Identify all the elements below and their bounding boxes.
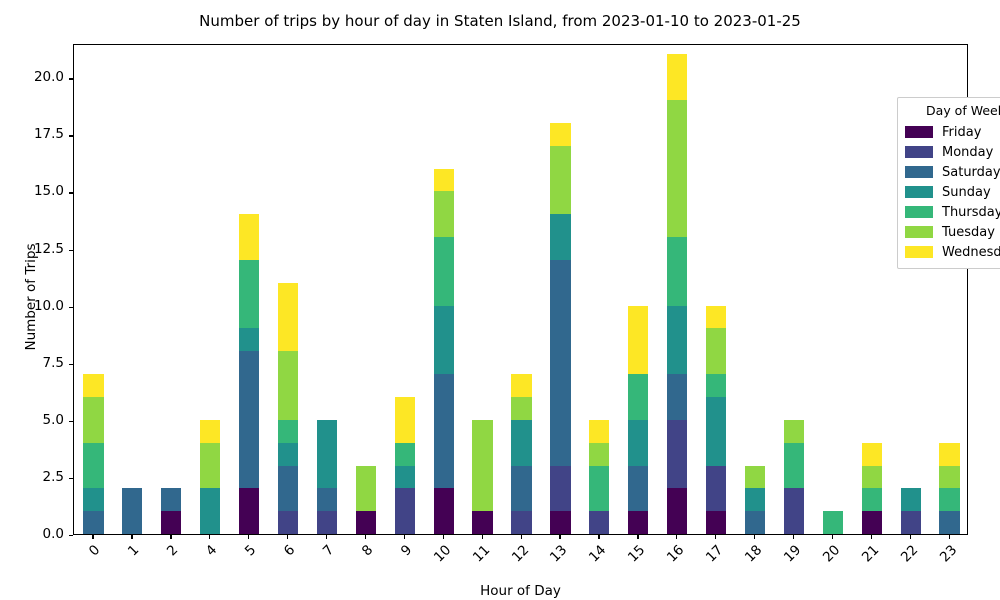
x-tick-mark (287, 535, 288, 539)
bar-segment[interactable] (706, 328, 726, 374)
bar-segment[interactable] (862, 511, 882, 534)
bar-segment[interactable] (83, 511, 103, 534)
x-tick-label: 7 (298, 542, 338, 582)
y-tick-label: 7.5 (43, 355, 64, 371)
x-tick-mark (754, 535, 755, 539)
bar-segment[interactable] (278, 283, 298, 352)
bar-group[interactable] (356, 43, 376, 534)
bar-segment[interactable] (823, 511, 843, 534)
x-tick-mark (404, 535, 405, 539)
bar-group[interactable] (83, 43, 103, 534)
x-tick-label: 0 (64, 542, 104, 582)
bar-segment[interactable] (278, 351, 298, 420)
bar-segment[interactable] (434, 169, 454, 192)
bar-segment[interactable] (161, 511, 181, 534)
bar-segment[interactable] (278, 511, 298, 534)
bar-segment[interactable] (511, 420, 531, 466)
legend-label: Thursday (942, 206, 1000, 219)
bar-segment[interactable] (161, 488, 181, 511)
bar-segment[interactable] (550, 146, 570, 215)
bar-segment[interactable] (278, 420, 298, 443)
bar-segment[interactable] (628, 466, 648, 512)
bar-segment[interactable] (862, 466, 882, 489)
x-tick-mark (365, 535, 366, 539)
legend-swatch (905, 206, 933, 218)
bars-container (74, 45, 967, 534)
bar-segment[interactable] (239, 351, 259, 488)
bar-group[interactable] (511, 43, 531, 534)
bar-segment[interactable] (550, 466, 570, 512)
bar-segment[interactable] (667, 488, 687, 534)
bar-segment[interactable] (511, 511, 531, 534)
x-axis: 0124567891011121314151617181920212223 Ho… (73, 535, 968, 600)
bar-segment[interactable] (83, 374, 103, 397)
x-tick-label: 22 (881, 542, 921, 582)
bar-group[interactable] (161, 43, 181, 534)
x-tick-label: 17 (687, 542, 727, 582)
legend-swatch (905, 126, 933, 138)
legend-item-wednesday[interactable]: Wednesday (905, 242, 1000, 262)
bar-segment[interactable] (317, 488, 337, 511)
bar-segment[interactable] (628, 511, 648, 534)
x-tick-label: 11 (453, 542, 493, 582)
legend-item-tuesday[interactable]: Tuesday (905, 222, 1000, 242)
legend-label: Friday (942, 126, 981, 139)
bar-segment[interactable] (628, 374, 648, 420)
bar-group[interactable] (317, 43, 337, 534)
y-tick-label: 0.0 (43, 526, 64, 542)
legend-swatch (905, 246, 933, 258)
bar-segment[interactable] (395, 443, 415, 466)
x-tick-mark (443, 535, 444, 539)
bar-segment[interactable] (667, 420, 687, 489)
bar-segment[interactable] (239, 260, 259, 329)
bar-segment[interactable] (278, 466, 298, 512)
bar-segment[interactable] (706, 374, 726, 397)
bar-segment[interactable] (511, 397, 531, 420)
x-tick-mark (832, 535, 833, 539)
x-tick-label: 10 (414, 542, 454, 582)
bar-segment[interactable] (83, 443, 103, 489)
x-tick-label: 19 (765, 542, 805, 582)
x-tick-label: 13 (531, 542, 571, 582)
x-tick-mark (326, 535, 327, 539)
bar-segment[interactable] (278, 443, 298, 466)
bar-segment[interactable] (356, 511, 376, 534)
bar-group[interactable] (122, 43, 142, 534)
x-tick-mark (637, 535, 638, 539)
bar-segment[interactable] (550, 123, 570, 146)
bar-group[interactable] (667, 43, 687, 534)
bar-segment[interactable] (472, 511, 492, 534)
x-tick-mark (92, 535, 93, 539)
bar-segment[interactable] (239, 488, 259, 534)
bar-segment[interactable] (550, 511, 570, 534)
x-tick-mark (209, 535, 210, 539)
bar-group[interactable] (628, 43, 648, 534)
x-axis-title: Hour of Day (73, 583, 968, 599)
bar-segment[interactable] (745, 511, 765, 534)
y-axis-title: Number of Trips (23, 97, 39, 497)
bar-segment[interactable] (434, 237, 454, 306)
bar-segment[interactable] (511, 466, 531, 512)
x-tick-mark (871, 535, 872, 539)
x-tick-label: 14 (570, 542, 610, 582)
bar-segment[interactable] (200, 420, 220, 443)
bar-segment[interactable] (395, 488, 415, 534)
bar-segment[interactable] (667, 374, 687, 420)
bar-segment[interactable] (317, 511, 337, 534)
x-tick-label: 15 (609, 542, 649, 582)
legend-item-sunday[interactable]: Sunday (905, 182, 1000, 202)
bar-segment[interactable] (200, 488, 220, 534)
bar-segment[interactable] (706, 466, 726, 512)
bar-group[interactable] (784, 43, 804, 534)
x-tick-label: 5 (220, 542, 260, 582)
x-tick-mark (131, 535, 132, 539)
bar-segment[interactable] (939, 488, 959, 511)
bar-segment[interactable] (434, 191, 454, 237)
x-tick-mark (715, 535, 716, 539)
x-tick-label: 1 (103, 542, 143, 582)
bar-segment[interactable] (939, 511, 959, 534)
bar-segment[interactable] (862, 488, 882, 511)
legend-item-thursday[interactable]: Thursday (905, 202, 1000, 222)
bar-segment[interactable] (667, 100, 687, 237)
legend-label: Sunday (942, 186, 991, 199)
legend-label: Saturday (942, 166, 1000, 179)
x-tick-mark (910, 535, 911, 539)
bar-segment[interactable] (434, 488, 454, 534)
bar-group[interactable] (823, 43, 843, 534)
bar-group[interactable] (862, 43, 882, 534)
legend-swatch (905, 226, 933, 238)
x-tick-mark (598, 535, 599, 539)
bar-segment[interactable] (589, 511, 609, 534)
bar-segment[interactable] (83, 488, 103, 511)
bar-group[interactable] (239, 43, 259, 534)
bar-group[interactable] (589, 43, 609, 534)
x-tick-label: 18 (726, 542, 766, 582)
x-tick-label: 16 (648, 542, 688, 582)
x-tick-mark (521, 535, 522, 539)
y-tick-label: 2.5 (43, 469, 64, 485)
x-tick-label: 9 (375, 542, 415, 582)
bar-segment[interactable] (239, 214, 259, 260)
legend-label: Wednesday (942, 246, 1000, 259)
chart-figure: Number of trips by hour of day in Staten… (0, 0, 1000, 600)
bar-segment[interactable] (745, 466, 765, 489)
x-tick-mark (248, 535, 249, 539)
y-tick-label: 5.0 (43, 412, 64, 428)
bar-group[interactable] (200, 43, 220, 534)
bar-segment[interactable] (862, 443, 882, 466)
x-tick-label: 23 (920, 542, 960, 582)
x-tick-mark (793, 535, 794, 539)
legend-label: Monday (942, 146, 993, 159)
bar-segment[interactable] (511, 374, 531, 397)
bar-segment[interactable] (395, 397, 415, 443)
legend-swatch (905, 166, 933, 178)
bar-segment[interactable] (317, 420, 337, 489)
bar-segment[interactable] (200, 443, 220, 489)
y-tick-label: 20.0 (34, 69, 64, 85)
legend-item-friday[interactable]: Friday (905, 122, 1000, 142)
bar-segment[interactable] (589, 420, 609, 443)
bar-segment[interactable] (589, 466, 609, 512)
bar-segment[interactable] (901, 511, 921, 534)
bar-segment[interactable] (667, 54, 687, 100)
bar-segment[interactable] (667, 237, 687, 306)
bar-segment[interactable] (628, 420, 648, 466)
legend-label: Tuesday (942, 226, 995, 239)
bar-segment[interactable] (589, 443, 609, 466)
legend: Day of Week FridayMondaySaturdaySundayTh… (897, 97, 1000, 269)
bar-group[interactable] (706, 43, 726, 534)
bar-group[interactable] (278, 43, 298, 534)
bar-segment[interactable] (356, 466, 376, 512)
x-tick-label: 12 (492, 542, 532, 582)
bar-segment[interactable] (901, 488, 921, 511)
bar-group[interactable] (745, 43, 765, 534)
bar-segment[interactable] (784, 420, 804, 443)
bar-segment[interactable] (83, 397, 103, 443)
bar-segment[interactable] (784, 488, 804, 534)
bar-segment[interactable] (395, 466, 415, 489)
legend-title: Day of Week (905, 103, 1000, 118)
bar-segment[interactable] (706, 511, 726, 534)
x-tick-label: 8 (337, 542, 377, 582)
x-tick-label: 2 (142, 542, 182, 582)
legend-entries: FridayMondaySaturdaySundayThursdayTuesda… (905, 122, 1000, 262)
x-tick-mark (676, 535, 677, 539)
x-tick-label: 4 (181, 542, 221, 582)
chart-title: Number of trips by hour of day in Staten… (0, 12, 1000, 30)
bar-segment[interactable] (628, 306, 648, 375)
bar-segment[interactable] (706, 397, 726, 466)
x-tick-mark (170, 535, 171, 539)
x-tick-mark (482, 535, 483, 539)
bar-segment[interactable] (784, 443, 804, 489)
x-tick-mark (559, 535, 560, 539)
legend-item-saturday[interactable]: Saturday (905, 162, 1000, 182)
bar-group[interactable] (472, 43, 492, 534)
y-axis: 0.02.55.07.510.012.515.017.520.0 Number … (0, 44, 73, 535)
bar-segment[interactable] (434, 306, 454, 375)
bar-segment[interactable] (239, 328, 259, 351)
bar-segment[interactable] (706, 306, 726, 329)
bar-segment[interactable] (472, 420, 492, 511)
x-tick-label: 20 (804, 542, 844, 582)
legend-swatch (905, 146, 933, 158)
bar-segment[interactable] (667, 306, 687, 375)
bar-segment[interactable] (939, 443, 959, 466)
bar-segment[interactable] (939, 466, 959, 489)
x-tick-label: 21 (842, 542, 882, 582)
bar-segment[interactable] (550, 260, 570, 466)
bar-segment[interactable] (745, 488, 765, 511)
bar-group[interactable] (550, 43, 570, 534)
bar-segment[interactable] (122, 488, 142, 534)
bar-group[interactable] (434, 43, 454, 534)
bar-segment[interactable] (434, 374, 454, 488)
bar-group[interactable] (395, 43, 415, 534)
legend-item-monday[interactable]: Monday (905, 142, 1000, 162)
bar-segment[interactable] (550, 214, 570, 260)
legend-swatch (905, 186, 933, 198)
plot-area: Day of Week FridayMondaySaturdaySundayTh… (73, 44, 968, 535)
x-tick-mark (949, 535, 950, 539)
x-tick-label: 6 (259, 542, 299, 582)
